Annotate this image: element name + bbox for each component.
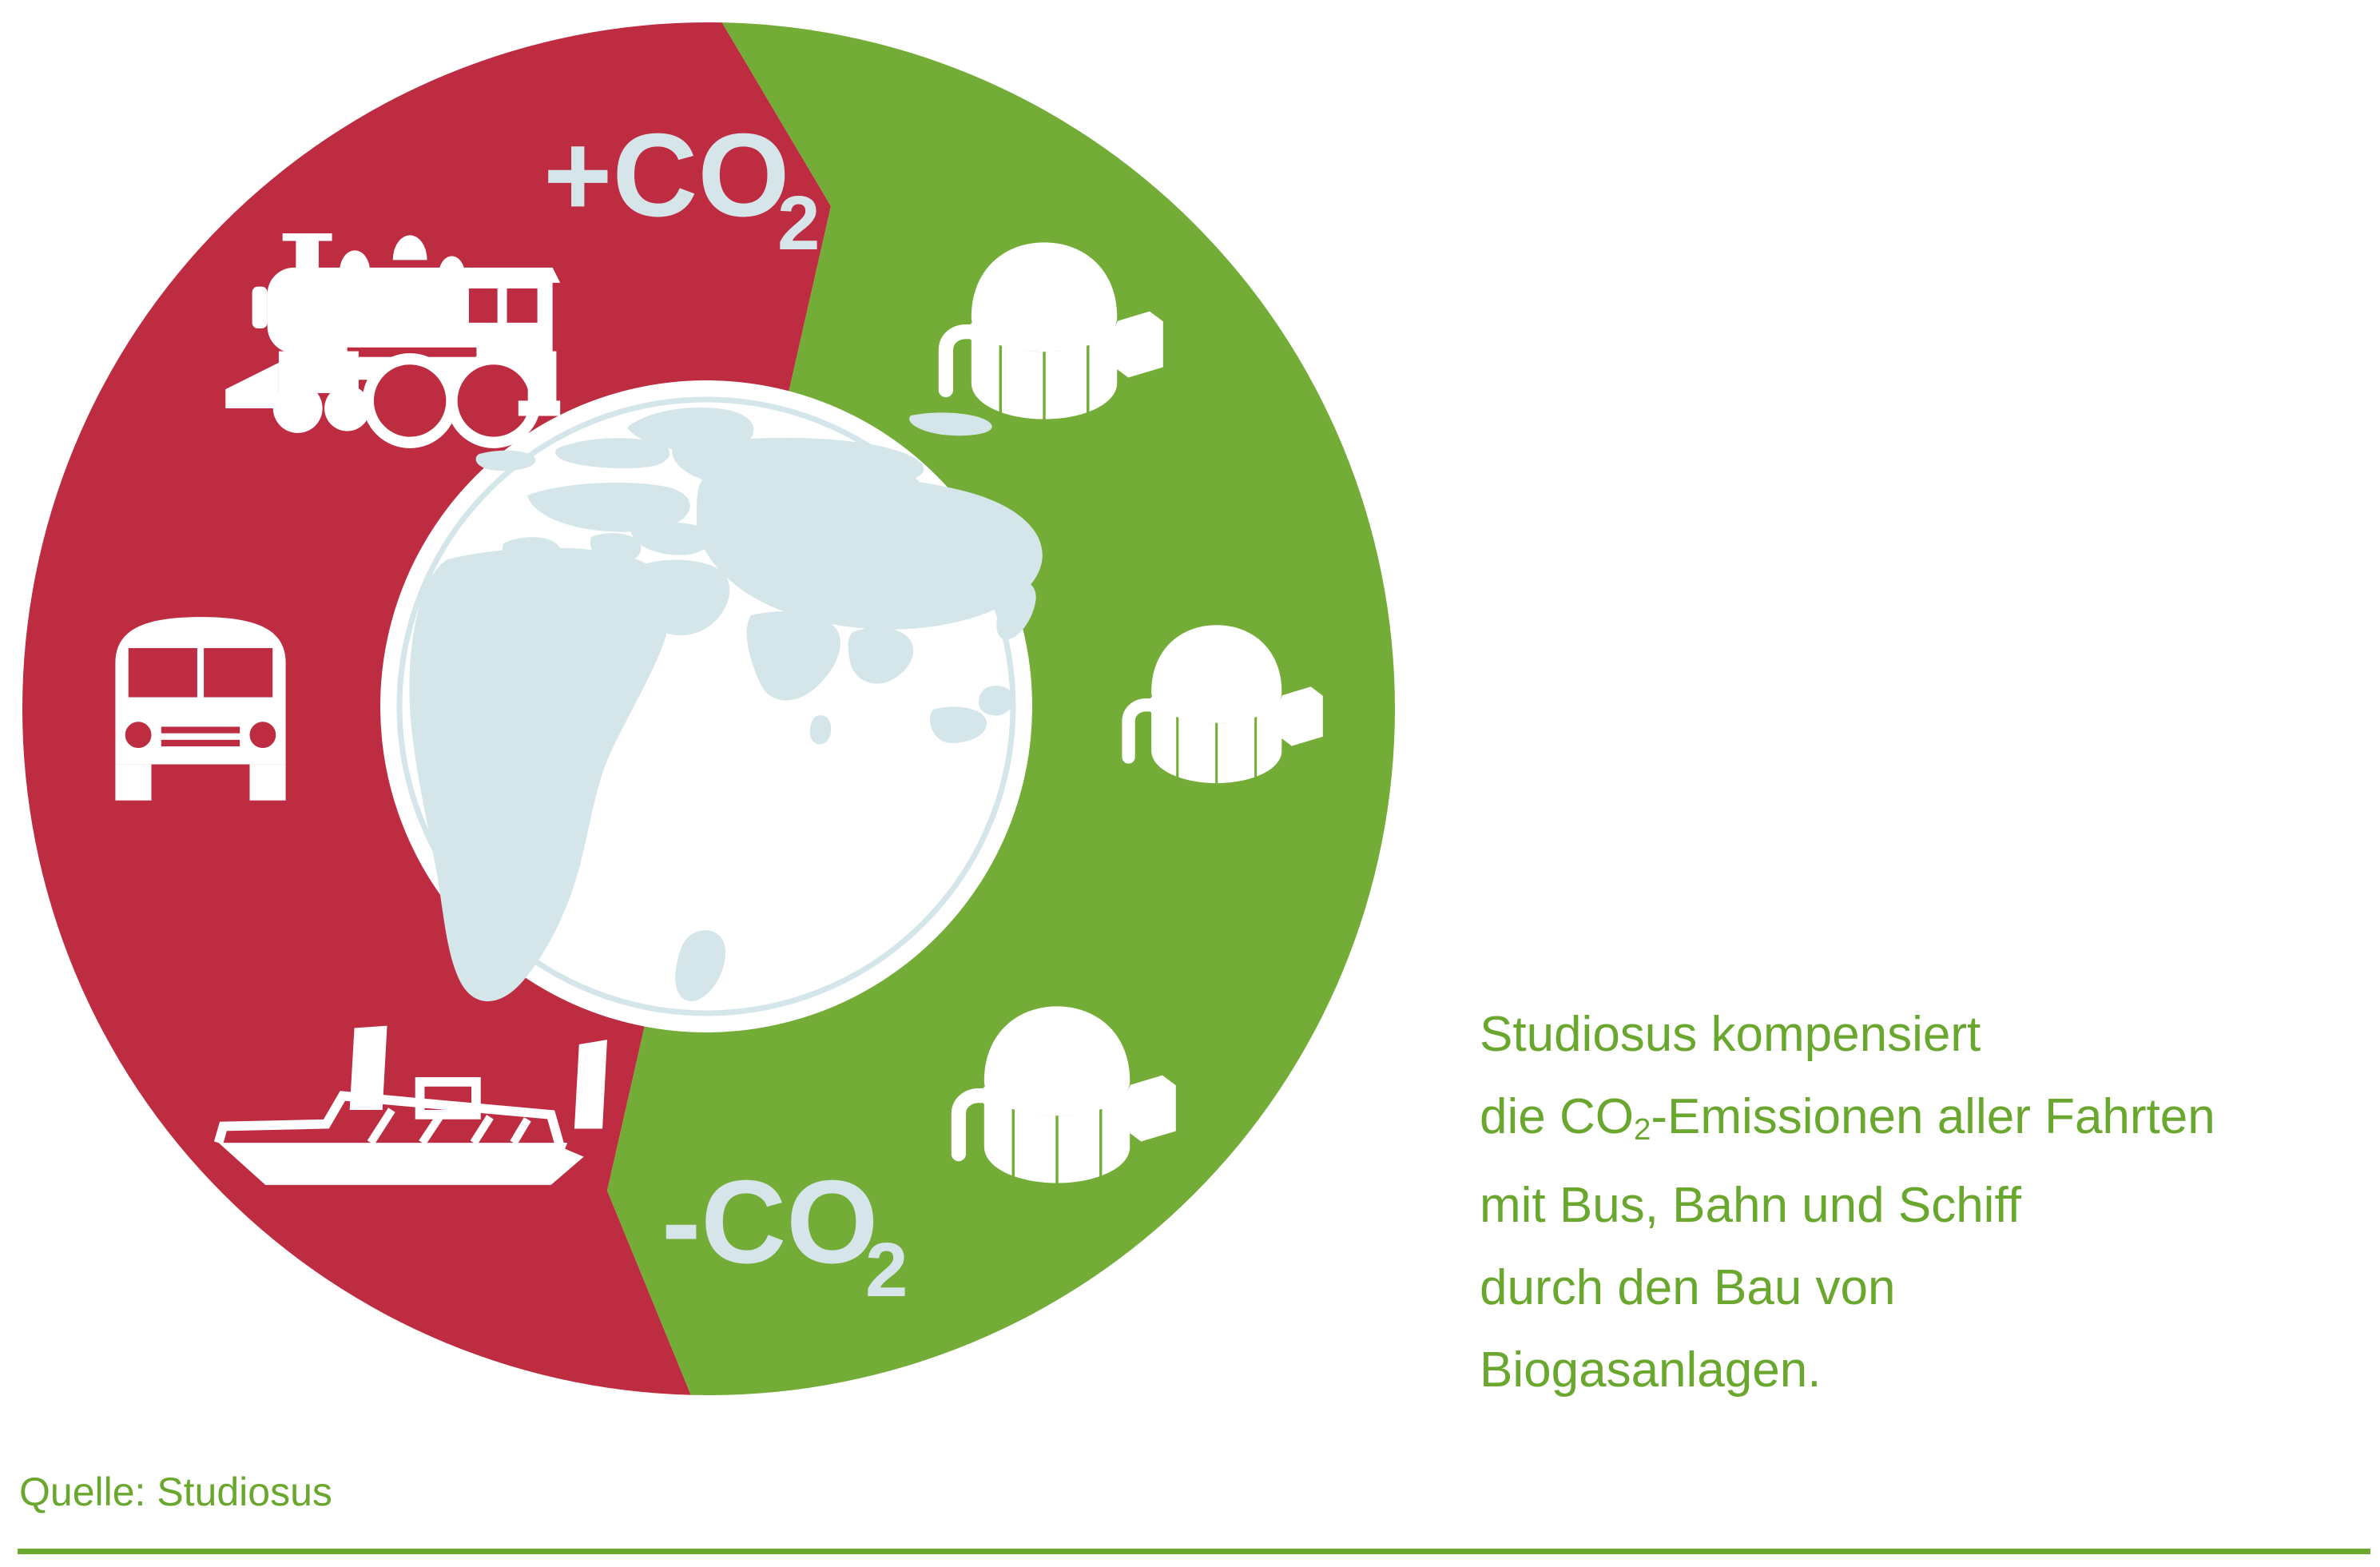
caption-block: Studiosus kompensiert die CO2-Emissionen… — [1480, 993, 2358, 1411]
caption-line-1: Studiosus kompensiert — [1480, 993, 2358, 1076]
caption-line-4: durch den Bau von — [1480, 1247, 2358, 1329]
caption-line-2-post: -Emissionen aller Fahrten — [1651, 1089, 2215, 1144]
plus-co2-label-text: +CO — [543, 109, 789, 241]
co2-cycle-diagram: +CO 2 -CO 2 — [0, 0, 1438, 1438]
source-text: Quelle: Studiosus — [19, 1469, 332, 1515]
caption-line-3: mit Bus, Bahn und Schiff — [1480, 1164, 2358, 1247]
bus-front-icon — [115, 617, 285, 801]
source-divider — [18, 1549, 2370, 1554]
caption-line-2-subscript: 2 — [1634, 1112, 1651, 1147]
minus-co2-label-subscript: 2 — [865, 1227, 908, 1313]
minus-co2-label-text: -CO — [662, 1156, 878, 1288]
caption-line-5: Biogasanlagen. — [1480, 1329, 2358, 1411]
caption-line-2: die CO2-Emissionen aller Fahrten — [1480, 1076, 2358, 1164]
caption-line-2-pre: die CO — [1480, 1089, 1634, 1144]
plus-co2-label-subscript: 2 — [777, 181, 820, 266]
